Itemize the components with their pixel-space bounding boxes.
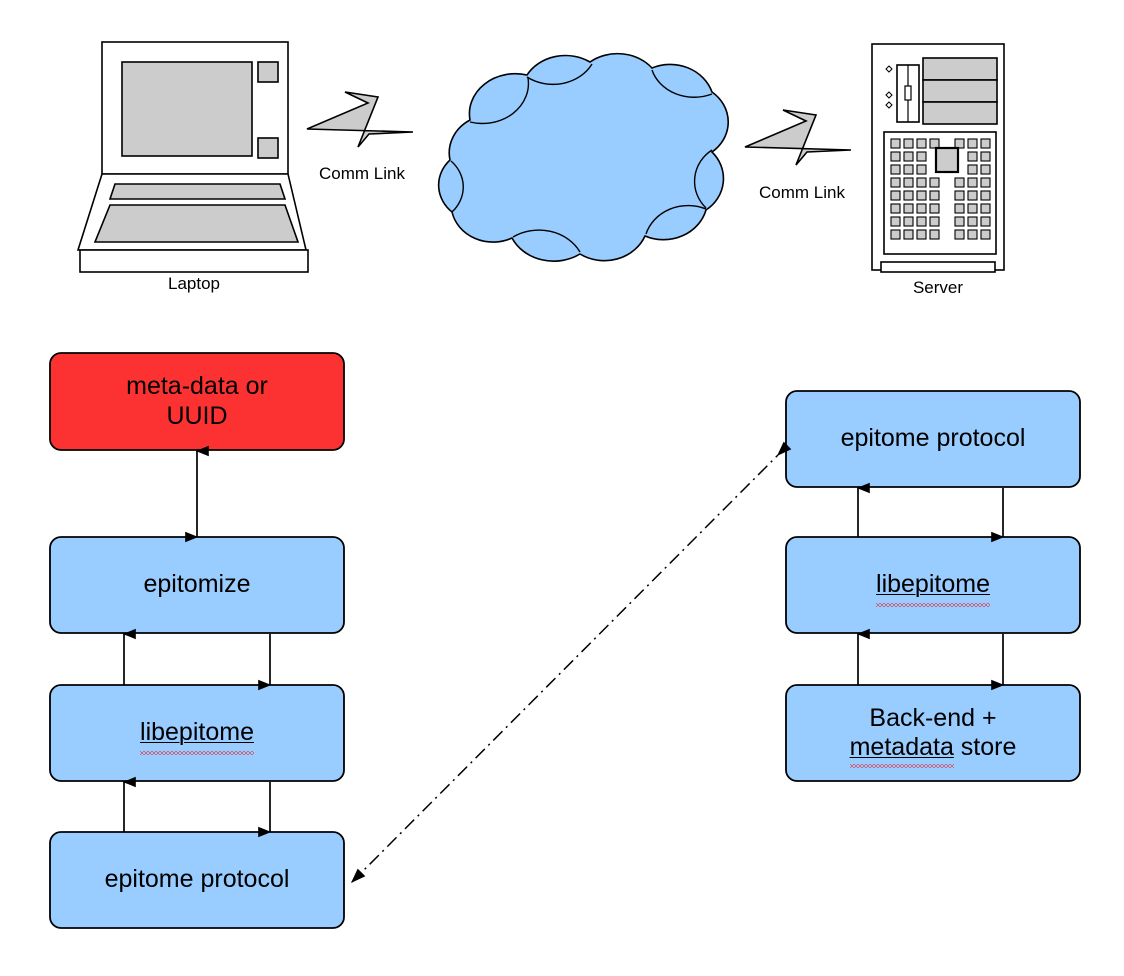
- comm-link-right-caption: Comm Link: [732, 183, 872, 203]
- server-caption: Server: [868, 278, 1008, 298]
- connector-protocol-right-to-libepitome-right: [858, 488, 1003, 537]
- laptop-icon: [78, 42, 308, 272]
- laptop-caption: Laptop: [124, 274, 264, 294]
- node-libepitome-left[interactable]: [50, 685, 344, 781]
- node-meta-data-or-uuid[interactable]: [50, 353, 344, 450]
- connector-epitomize-to-libepitome-left: [124, 634, 270, 685]
- lightning-bolt-icon-right: [745, 110, 851, 165]
- node-epitome-protocol-left[interactable]: [50, 832, 344, 928]
- node-back-end-metadata-store[interactable]: [786, 685, 1080, 781]
- node-epitome-protocol-right[interactable]: [786, 391, 1080, 487]
- cloud-icon: [439, 54, 729, 262]
- node-epitomize[interactable]: [50, 537, 344, 633]
- connector-protocol-left-to-protocol-right: [352, 455, 778, 882]
- comm-link-left-caption: Comm Link: [292, 164, 432, 184]
- lightning-bolt-icon-left: [307, 92, 413, 147]
- node-libepitome-right[interactable]: [786, 537, 1080, 633]
- connector-libepitome-left-to-protocol-left: [124, 782, 270, 832]
- server-icon: [872, 44, 1004, 272]
- diagram-canvas: [0, 0, 1124, 976]
- connector-libepitome-right-to-backend: [858, 634, 1003, 685]
